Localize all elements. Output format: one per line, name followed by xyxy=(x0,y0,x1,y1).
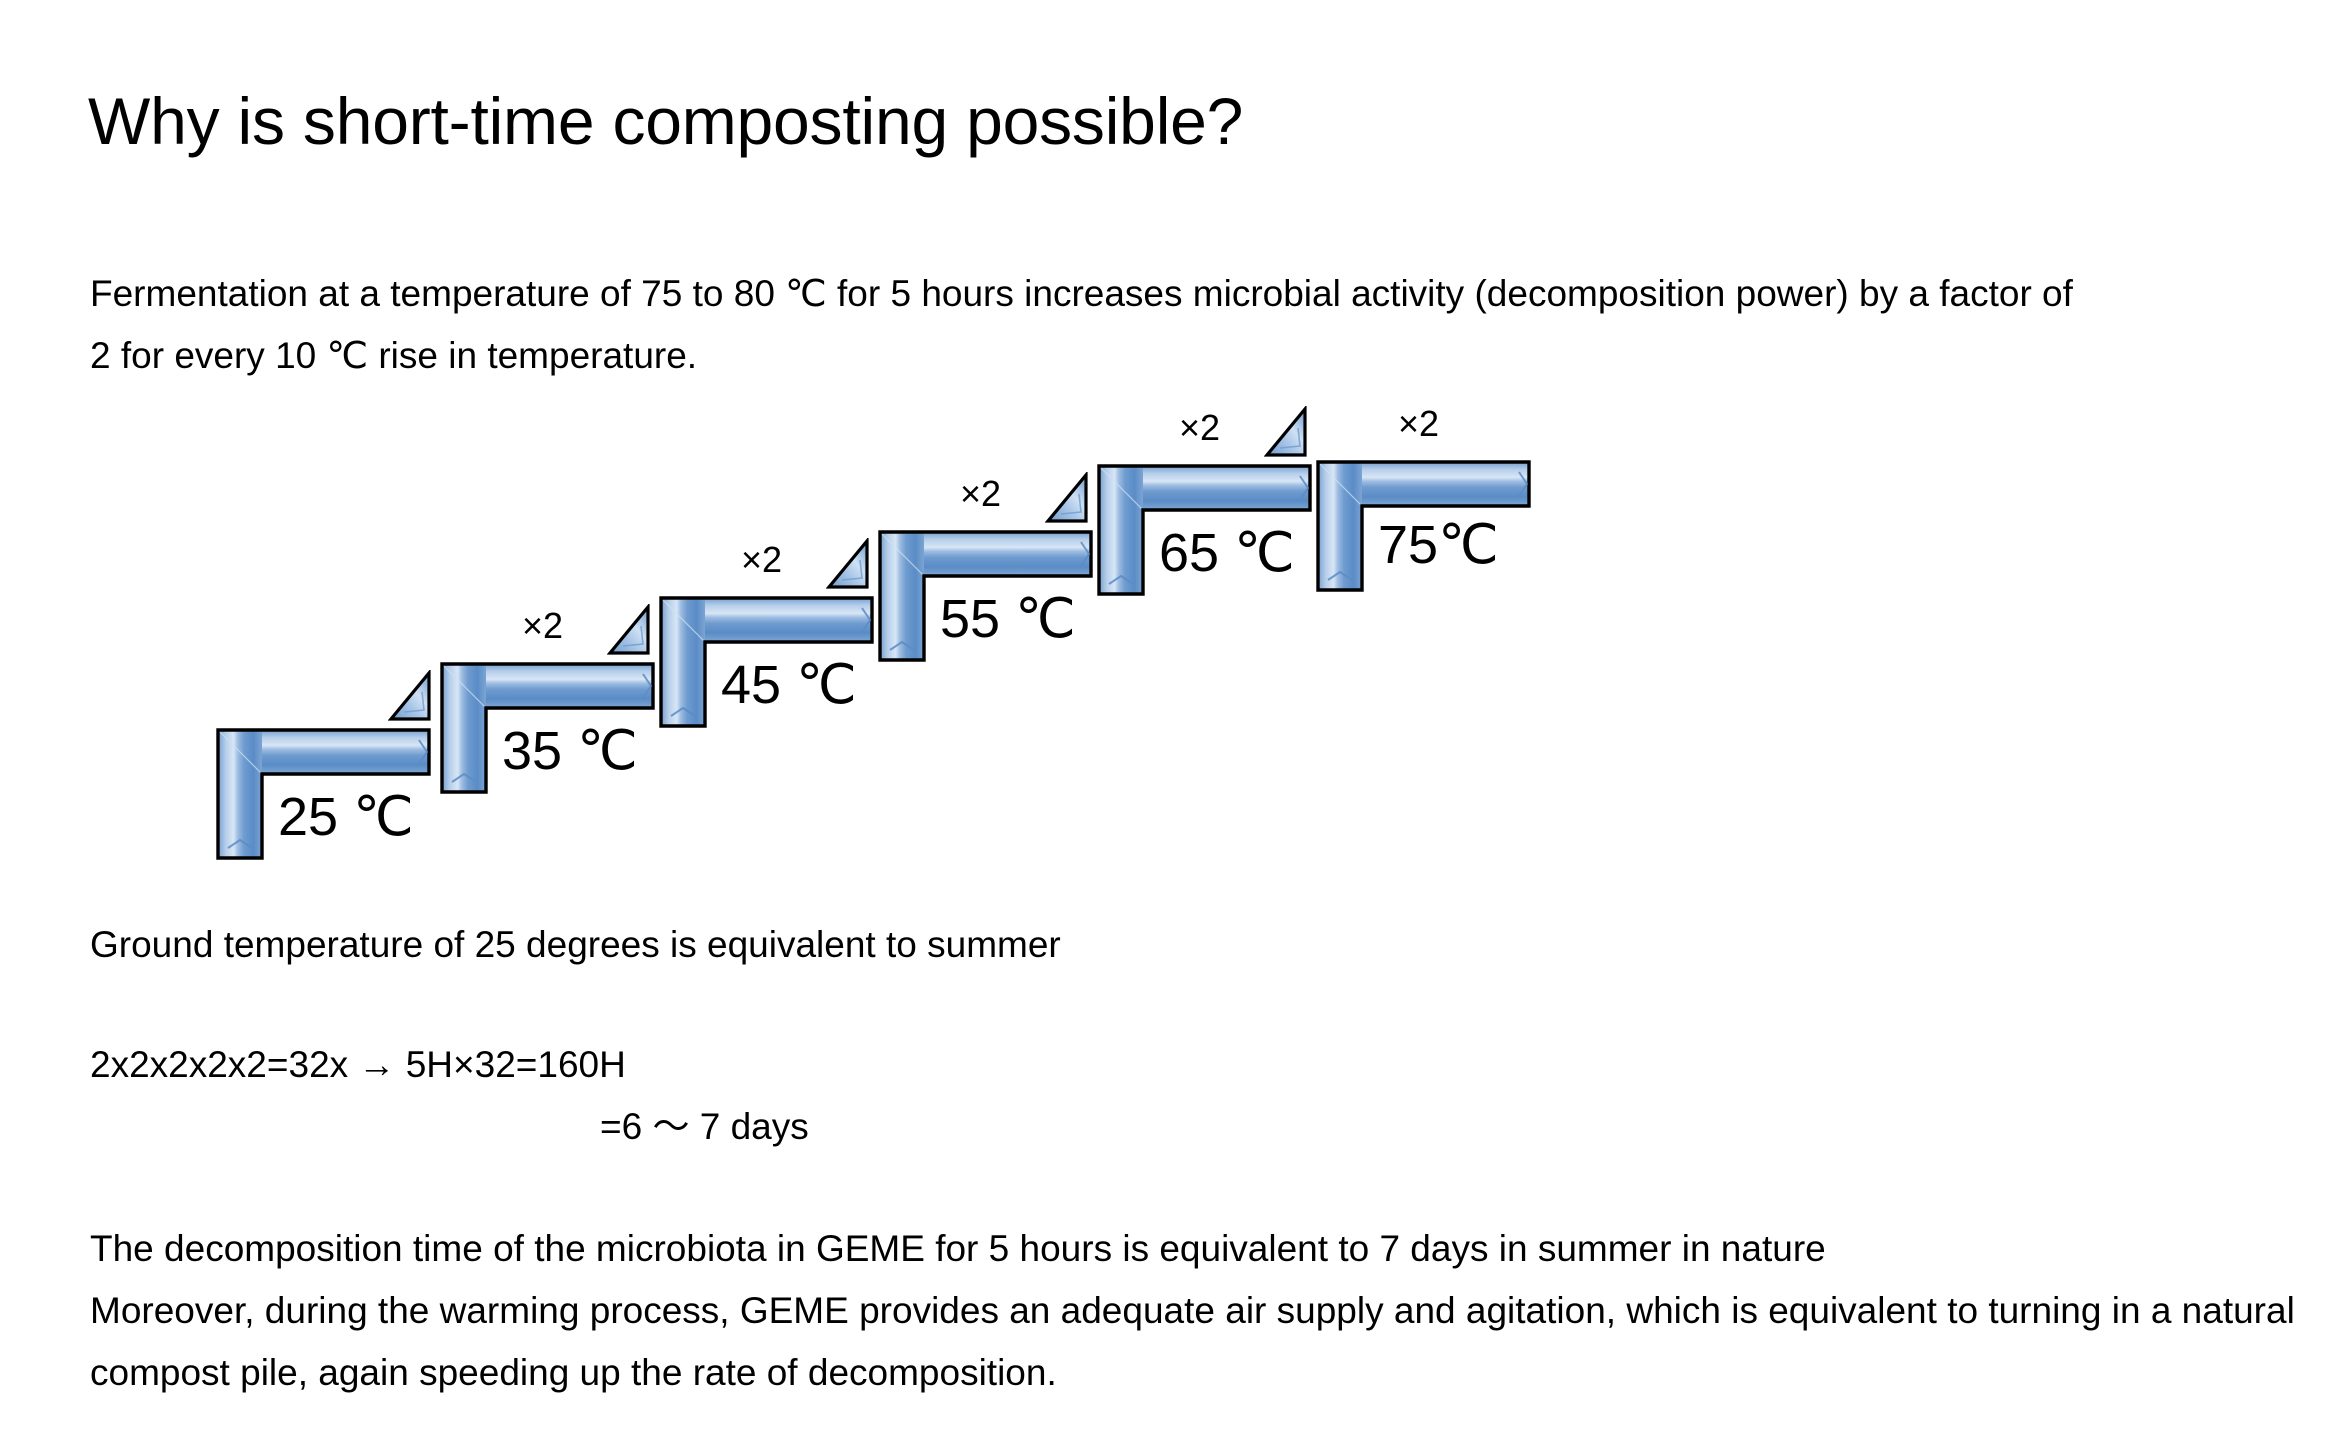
slide-canvas: Why is short-time composting possible? F… xyxy=(0,0,2344,1433)
step-shape-6: 75℃ ×2 xyxy=(1316,460,1531,592)
step-shape-5: 65 ℃ ×2 xyxy=(1097,464,1312,596)
calculation-line-1: 2x2x2x2x2=32x → 5H×32=160H xyxy=(90,1034,626,1096)
step-multiplier-label-4: ×2 xyxy=(960,476,1001,512)
step-temperature-label-1: 25 ℃ xyxy=(278,790,414,844)
step-shape-3: 45 ℃ ×2 xyxy=(659,596,874,728)
step-temperature-label-5: 65 ℃ xyxy=(1159,526,1295,580)
step-triangle-4 xyxy=(1045,472,1089,524)
calculation-line-2: =6 ～ 7 days xyxy=(600,1096,809,1158)
step-triangle-3 xyxy=(826,538,870,590)
step-temperature-label-4: 55 ℃ xyxy=(940,592,1076,646)
closing-paragraph: The decomposition time of the microbiota… xyxy=(90,1218,2320,1404)
page-title: Why is short-time composting possible? xyxy=(88,82,1243,160)
step-temperature-label-3: 45 ℃ xyxy=(721,658,857,712)
step-triangle-2 xyxy=(607,604,651,656)
ground-temperature-paragraph: Ground temperature of 25 degrees is equi… xyxy=(90,914,1890,976)
intro-paragraph: Fermentation at a temperature of 75 to 8… xyxy=(90,263,2090,387)
step-triangle-5 xyxy=(1264,406,1308,458)
step-shape-2: 35 ℃ ×2 xyxy=(440,662,655,794)
step-triangle-1 xyxy=(388,670,432,722)
step-multiplier-label-3: ×2 xyxy=(741,542,782,578)
step-shape-1: 25 ℃ xyxy=(216,728,431,860)
step-shape-4: 55 ℃ ×2 xyxy=(878,530,1093,662)
step-temperature-label-2: 35 ℃ xyxy=(502,724,638,778)
temperature-staircase-diagram: 25 ℃ 35 ℃ ×2 xyxy=(0,400,2344,900)
step-multiplier-label-6: ×2 xyxy=(1398,406,1439,442)
step-temperature-label-6: 75℃ xyxy=(1378,518,1499,572)
step-multiplier-label-5: ×2 xyxy=(1179,410,1220,446)
step-multiplier-label-2: ×2 xyxy=(522,608,563,644)
